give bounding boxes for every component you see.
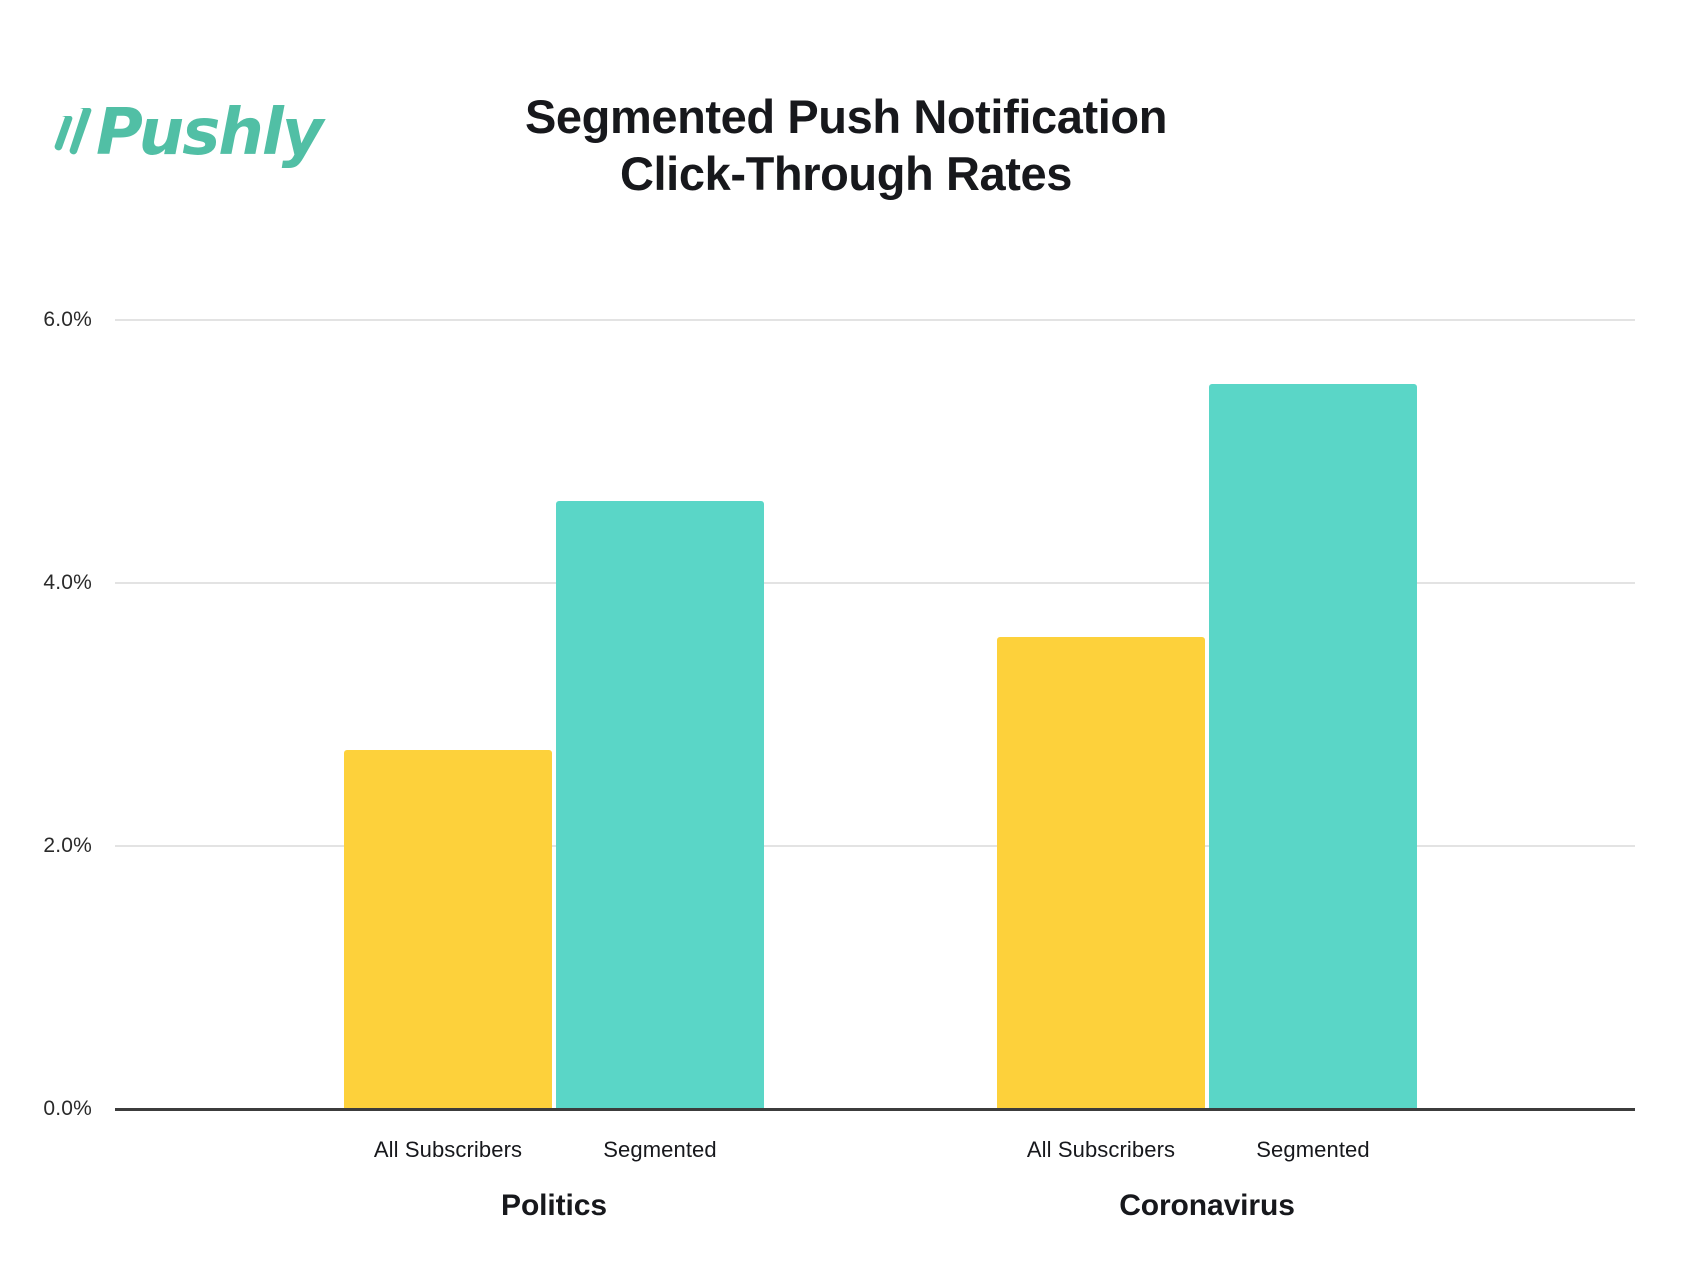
- y-axis-tick-6: 6.0%: [0, 308, 92, 332]
- y-axis-tick-2: 2.0%: [0, 834, 92, 858]
- xtick-coronavirus-all-subscribers: All Subscribers: [997, 1137, 1205, 1163]
- bar-politics-all-subscribers[interactable]: [344, 750, 552, 1108]
- gridline-6-percent: [115, 319, 1635, 321]
- bar-coronavirus-segmented[interactable]: [1209, 384, 1417, 1108]
- bar-politics-segmented[interactable]: [556, 501, 764, 1108]
- chart-plot-area: 6.0% 4.0% 2.0% 0.0% All Subscribers Segm…: [0, 0, 1692, 1265]
- bar-coronavirus-all-subscribers[interactable]: [997, 637, 1205, 1108]
- y-axis-tick-4: 4.0%: [0, 571, 92, 595]
- group-label-politics: Politics: [344, 1189, 764, 1223]
- y-axis-tick-0: 0.0%: [0, 1097, 92, 1121]
- group-label-coronavirus: Coronavirus: [997, 1189, 1417, 1223]
- xtick-politics-all-subscribers: All Subscribers: [344, 1137, 552, 1163]
- xtick-politics-segmented: Segmented: [556, 1137, 764, 1163]
- x-axis-line: [115, 1108, 1635, 1111]
- xtick-coronavirus-segmented: Segmented: [1209, 1137, 1417, 1163]
